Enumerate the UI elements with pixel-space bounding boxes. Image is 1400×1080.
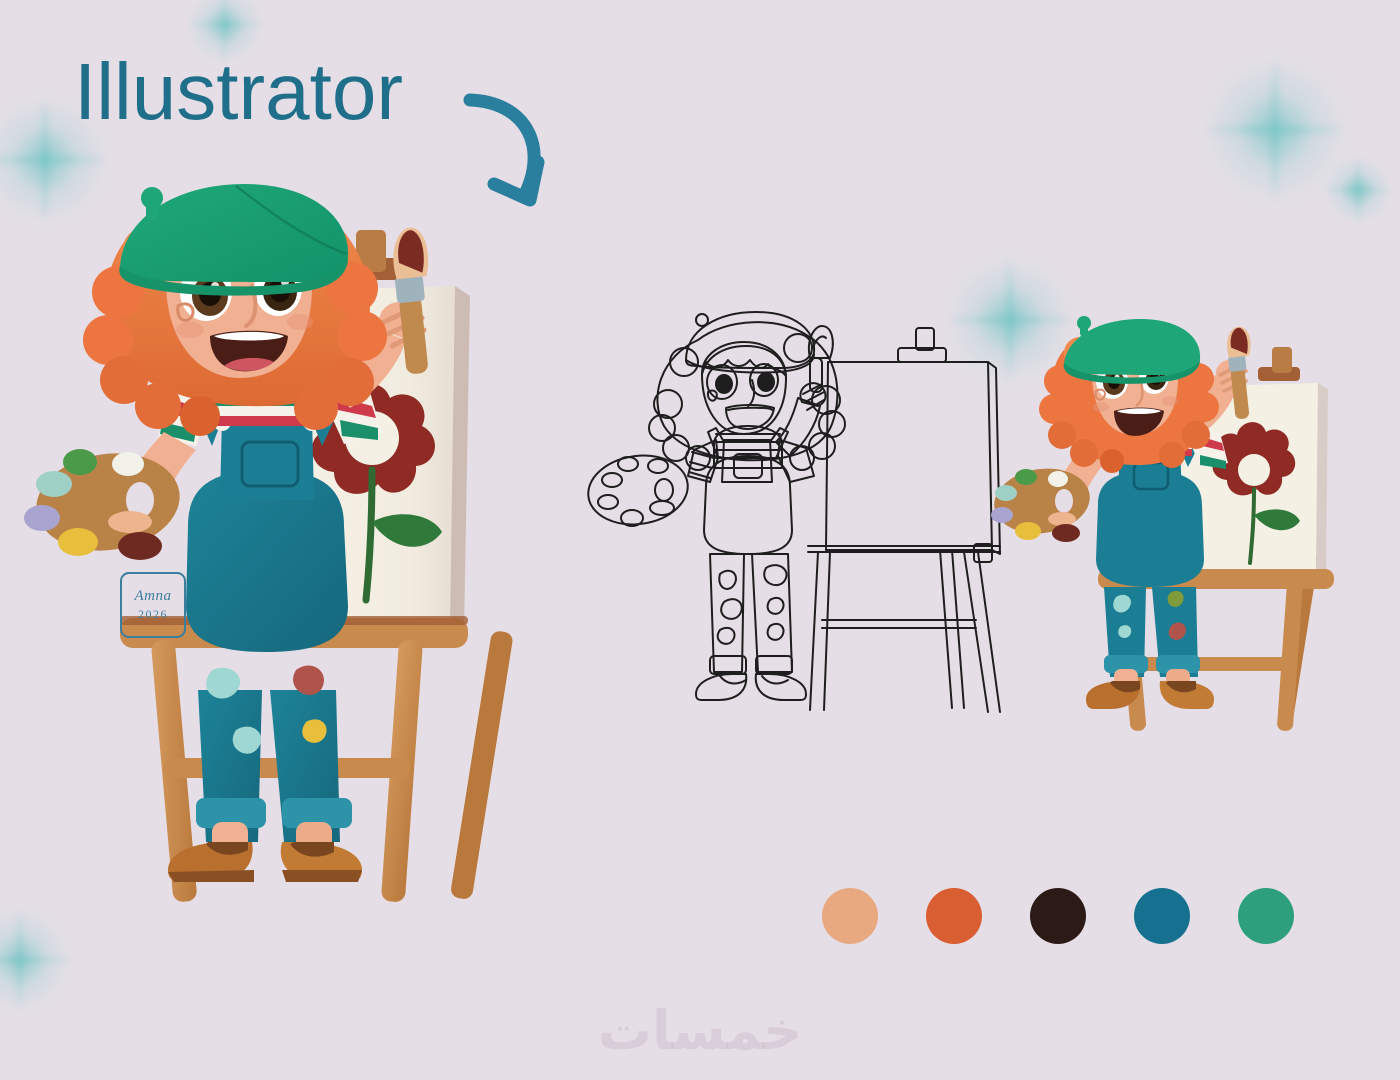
painted-character-large bbox=[0, 170, 680, 930]
beret-small bbox=[1064, 316, 1200, 384]
swatch-orange bbox=[926, 888, 982, 944]
sparkle-top-right-small bbox=[1318, 150, 1398, 230]
signature-name: Amna bbox=[135, 588, 172, 605]
overalls-large bbox=[186, 396, 348, 652]
line-art-sketch bbox=[640, 300, 1040, 760]
flat-color-character-small bbox=[1000, 325, 1380, 745]
swatch-green bbox=[1238, 888, 1294, 944]
signature-year: 2026 bbox=[138, 607, 168, 622]
illustration-canvas: Illustrator bbox=[0, 0, 1400, 1080]
color-palette-swatches bbox=[822, 888, 1294, 944]
watermark: خمسات bbox=[0, 999, 1400, 1062]
beret-large bbox=[119, 184, 348, 296]
artist-signature: Amna 2026 bbox=[120, 572, 186, 638]
sparkle-top-right bbox=[1190, 45, 1360, 215]
page-title: Illustrator bbox=[74, 52, 403, 132]
shoes-large bbox=[168, 842, 362, 882]
swatch-skin-peach bbox=[822, 888, 878, 944]
swatch-teal-blue bbox=[1134, 888, 1190, 944]
swatch-dark-brown bbox=[1030, 888, 1086, 944]
